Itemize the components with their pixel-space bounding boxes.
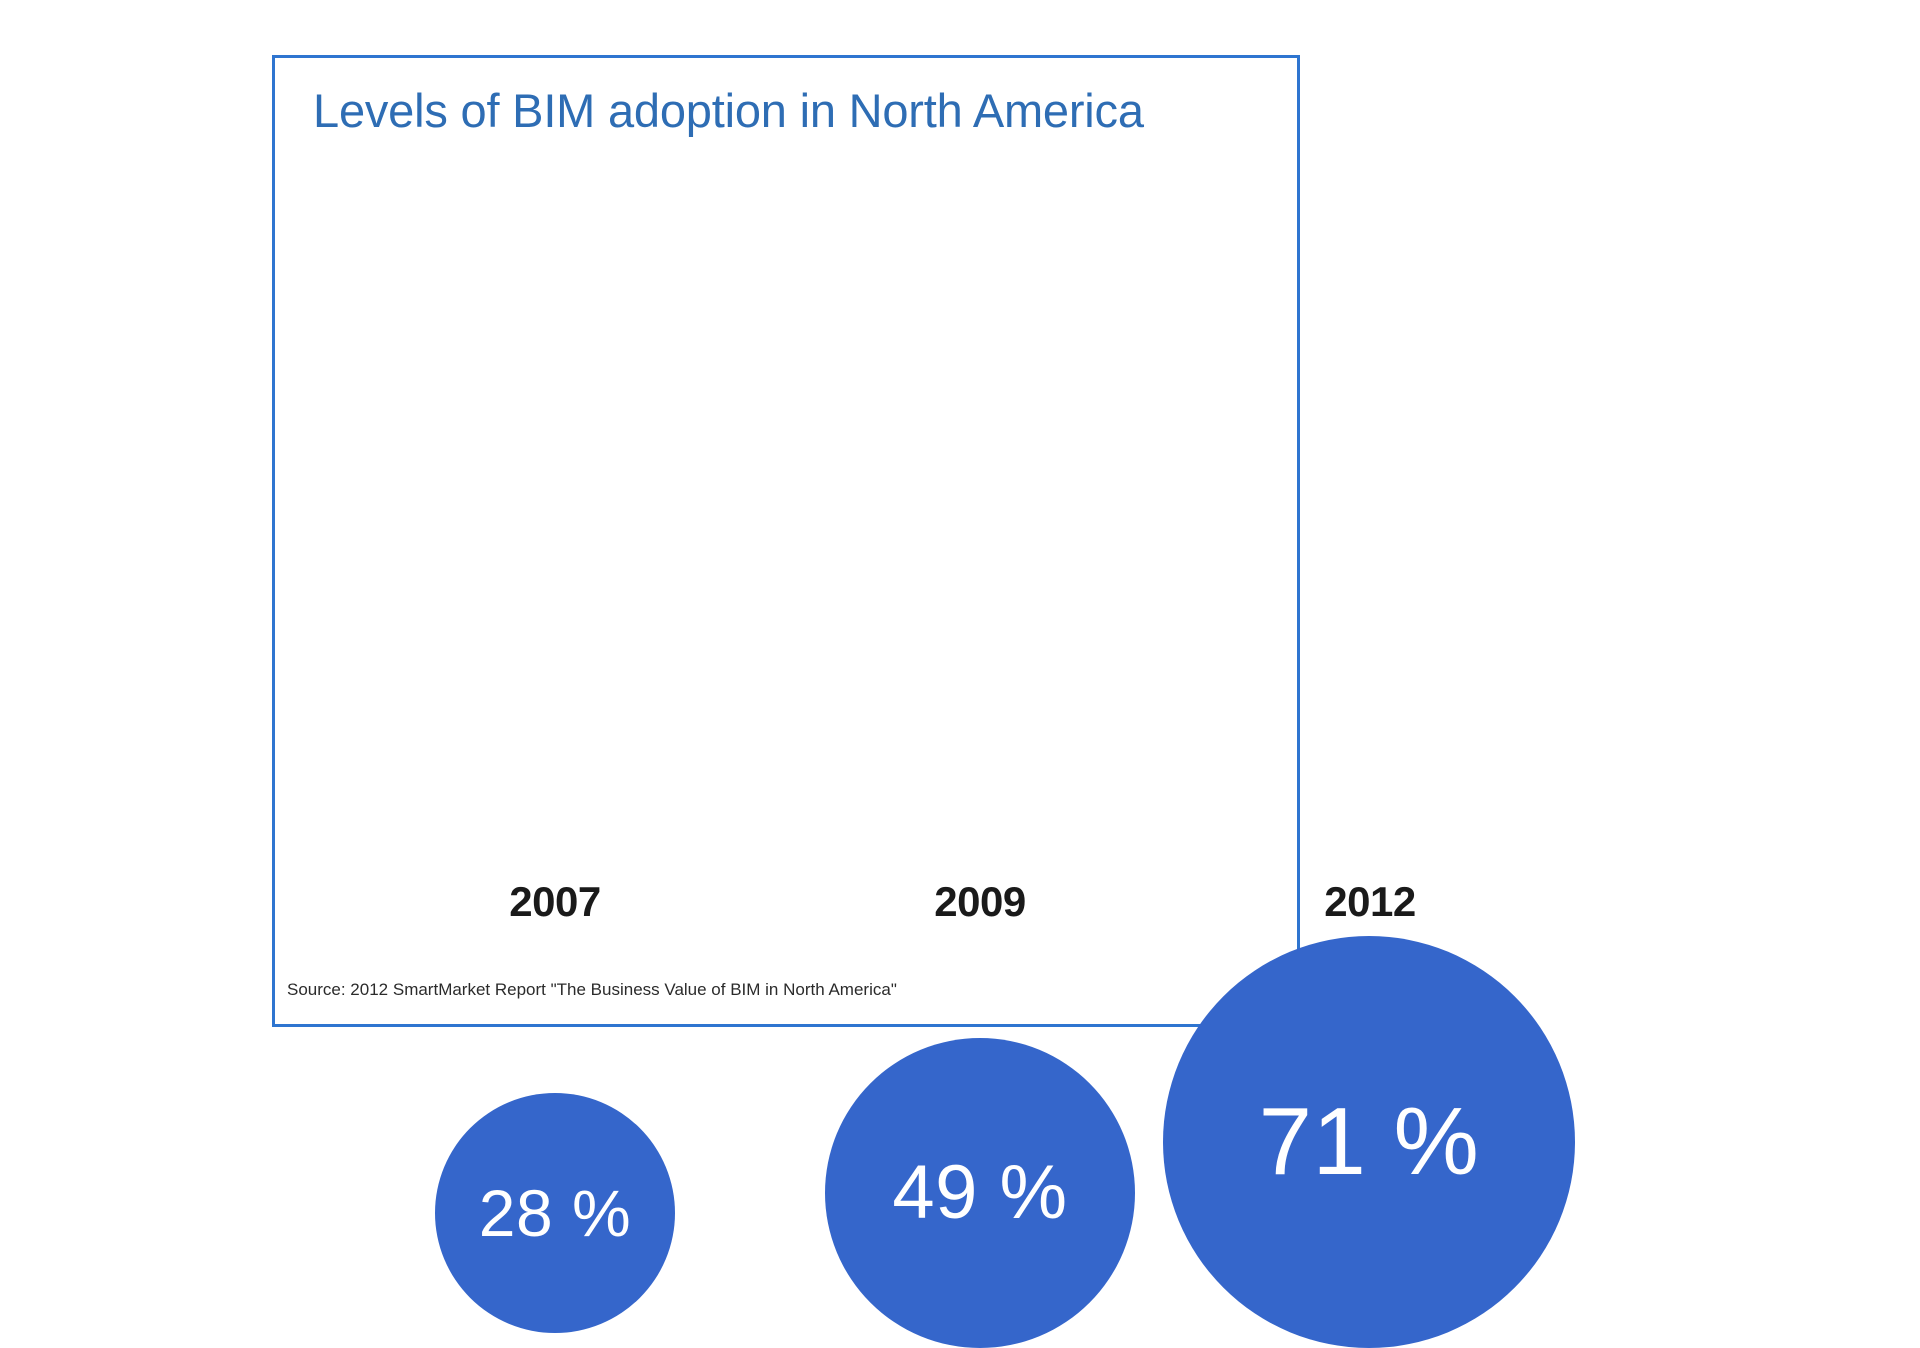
bubble-2012: 71 % — [1163, 936, 1575, 1348]
chart-frame: Levels of BIM adoption in North America … — [272, 55, 1300, 1027]
year-label-2012: 2012 — [1135, 878, 1605, 926]
source-note: Source: 2012 SmartMarket Report "The Bus… — [287, 980, 897, 1000]
bubble-chart-area: 2007 28 % 2009 49 % 2012 71 % — [275, 198, 1297, 878]
bubble-value-2009: 49 % — [892, 1155, 1067, 1231]
page-title: Levels of BIM adoption in North America — [313, 86, 1273, 135]
year-label-2009: 2009 — [785, 878, 1175, 926]
bubble-value-2007: 28 % — [479, 1180, 631, 1246]
slide-canvas: Levels of BIM adoption in North America … — [0, 0, 1920, 1080]
bubble-value-2012: 71 % — [1259, 1094, 1480, 1190]
bubble-2007: 28 % — [435, 1093, 675, 1333]
bubble-2009: 49 % — [825, 1038, 1135, 1348]
year-label-2007: 2007 — [305, 878, 805, 926]
